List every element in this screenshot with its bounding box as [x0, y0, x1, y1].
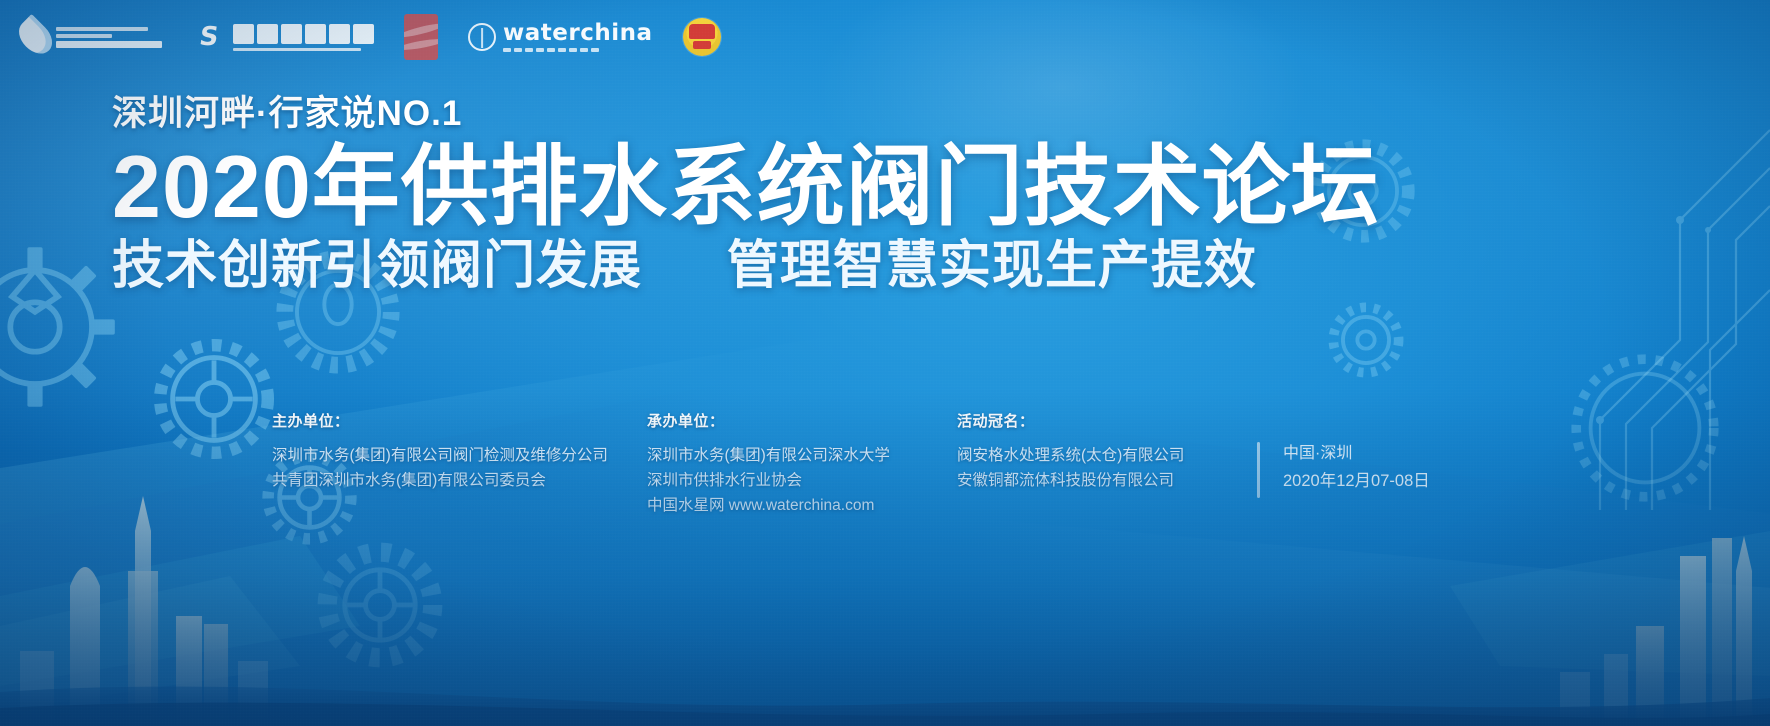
title-sponsor-label: 活动冠名： [957, 410, 1257, 431]
logo-yellow-red-badge [683, 18, 721, 56]
organizer-line-3: 中国水星网 www.waterchina.com [647, 493, 957, 518]
logo-shenzhen-water-group: S [192, 22, 374, 52]
gear-icon-right-mid [1318, 292, 1414, 388]
headline-block: 深圳河畔·行家说NO.1 2020年供排水系统阀门技术论坛 技术创新引领阀门发展… [112, 96, 1562, 297]
organizer-line-1: 深圳市水务(集团)有限公司深水大学 [647, 443, 957, 468]
gear-icon-left-mid [145, 330, 283, 468]
host-line-2: 共青团深圳市水务(集团)有限公司委员会 [272, 468, 647, 493]
globe-icon [468, 23, 496, 51]
sponsor-logo-bar: S waterchina [22, 6, 721, 68]
water-drop-icon [22, 18, 49, 56]
waterchina-wordmark: waterchina [503, 22, 653, 45]
diagonal-ribbon-4 [557, 485, 1770, 726]
main-title: 2020年供排水系统阀门技术论坛 [112, 139, 1562, 234]
diagonal-ribbon-2 [0, 319, 1122, 726]
event-location: 中国·深圳 [1283, 440, 1430, 467]
title-sponsor-line-2: 安徽铜都流体科技股份有限公司 [957, 468, 1257, 493]
conference-backdrop-banner: S waterchina 深圳河畔·行家说NO.1 2020年供排水系统阀门技术… [0, 0, 1770, 726]
credits-row: 主办单位： 深圳市水务(集团)有限公司阀门检测及维修分公司 共青团深圳市水务(集… [272, 410, 1710, 518]
credits-title-sponsor-column: 活动冠名： 阀安格水处理系统(太仓)有限公司 安徽铜都流体科技股份有限公司 [957, 410, 1257, 493]
logo-red-seal-mark [404, 14, 438, 60]
credits-where-column: 中国·深圳 2020年12月07-08日 [1257, 410, 1430, 495]
swg-monogram-icon: S [192, 22, 226, 52]
waterchina-logo-text: waterchina [503, 22, 653, 52]
credits-host-column: 主办单位： 深圳市水务(集团)有限公司阀门检测及维修分公司 共青团深圳市水务(集… [272, 410, 647, 493]
subtitle-left: 技术创新引领阀门发展 [112, 237, 642, 295]
host-line-1: 深圳市水务(集团)有限公司阀门检测及维修分公司 [272, 443, 647, 468]
host-label: 主办单位： [272, 410, 647, 431]
kicker-line: 深圳河畔·行家说NO.1 [112, 96, 1562, 133]
credits-organizer-column: 承办单位： 深圳市水务(集团)有限公司深水大学 深圳市供排水行业协会 中国水星网… [647, 410, 957, 518]
gear-icon-bottom-left [300, 525, 460, 685]
subtitle-right: 管理智慧实现生产提效 [727, 237, 1257, 295]
organizer-label: 承办单位： [647, 410, 957, 431]
organizer-line-2: 深圳市供排水行业协会 [647, 468, 957, 493]
subtitle-line: 技术创新引领阀门发展 管理智慧实现生产提效 [112, 236, 1562, 297]
swg-logo-text [233, 24, 374, 51]
title-sponsor-line-1: 阀安格水处理系统(太仓)有限公司 [957, 443, 1257, 468]
gear-icon-far-left [0, 232, 130, 422]
logo-waterchina: waterchina [468, 22, 653, 52]
logo-shenzhen-water-association [22, 18, 162, 56]
event-date: 2020年12月07-08日 [1283, 467, 1430, 495]
association-logo-text [56, 27, 162, 48]
